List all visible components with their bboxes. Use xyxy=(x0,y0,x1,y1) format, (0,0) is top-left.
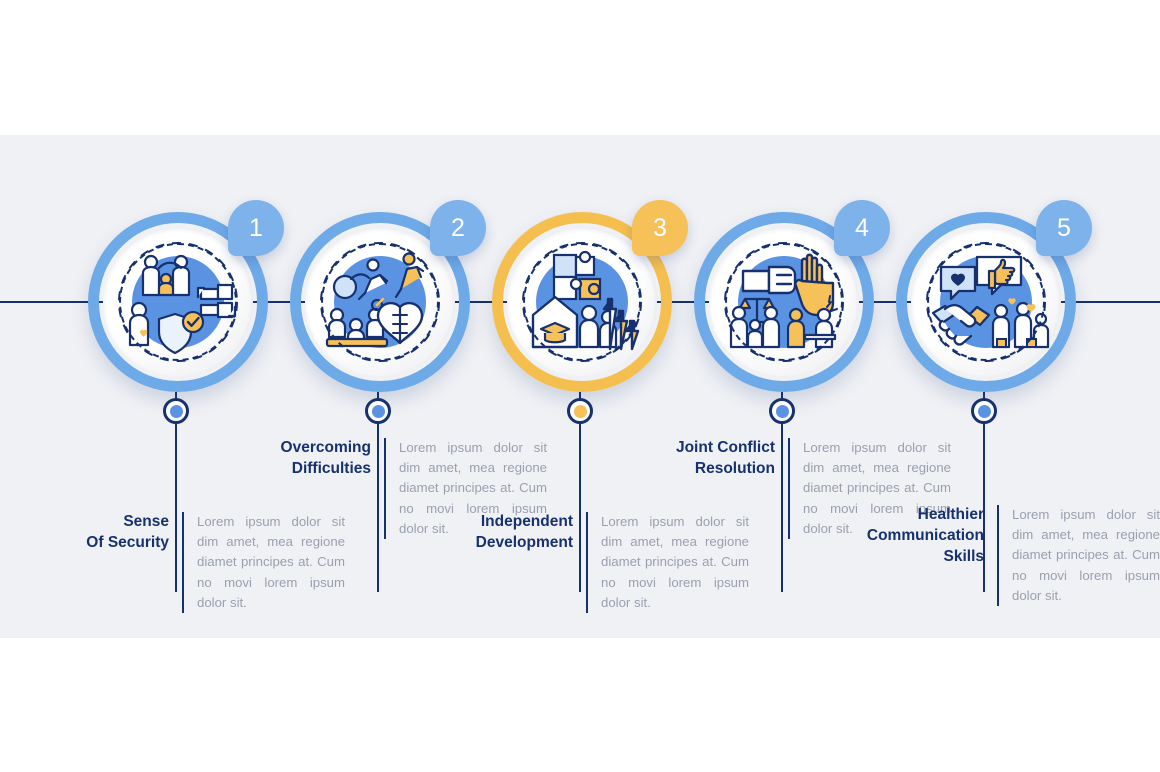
step-text-block-5: Healthier Communication Skills Lorem ips… xyxy=(808,505,1160,606)
step-title-2: Overcoming Difficulties xyxy=(281,438,384,480)
step-node-2[interactable]: 2 xyxy=(290,212,470,392)
step-badge-2: 2 xyxy=(430,200,486,256)
step-dashed-ring-5 xyxy=(927,243,1045,361)
step-description-5: Lorem ipsum dolor sit dim amet, mea regi… xyxy=(999,505,1160,606)
step-node-4[interactable]: 4 xyxy=(694,212,874,392)
infographic-canvas: 1 Sense Of Security Lorem ipsum dolor si… xyxy=(0,0,1160,772)
step-dot-3[interactable] xyxy=(567,398,593,424)
step-dashed-ring-4 xyxy=(725,243,843,361)
step-dot-1[interactable] xyxy=(163,398,189,424)
step-node-3[interactable]: 3 xyxy=(492,212,672,392)
step-dashed-ring-1 xyxy=(119,243,237,361)
step-title-1: Sense Of Security xyxy=(86,512,182,554)
step-badge-1: 1 xyxy=(228,200,284,256)
step-node-5[interactable]: 5 xyxy=(896,212,1076,392)
step-node-1[interactable]: 1 xyxy=(88,212,268,392)
step-dashed-ring-2 xyxy=(321,243,439,361)
step-dot-4[interactable] xyxy=(769,398,795,424)
step-badge-5: 5 xyxy=(1036,200,1092,256)
step-dot-2[interactable] xyxy=(365,398,391,424)
step-dot-5[interactable] xyxy=(971,398,997,424)
step-title-4: Joint Conflict Resolution xyxy=(676,438,788,480)
step-title-5: Healthier Communication Skills xyxy=(867,505,997,568)
step-dashed-ring-3 xyxy=(523,243,641,361)
step-badge-4: 4 xyxy=(834,200,890,256)
step-title-3: Independent Development xyxy=(476,512,586,554)
step-badge-3: 3 xyxy=(632,200,688,256)
